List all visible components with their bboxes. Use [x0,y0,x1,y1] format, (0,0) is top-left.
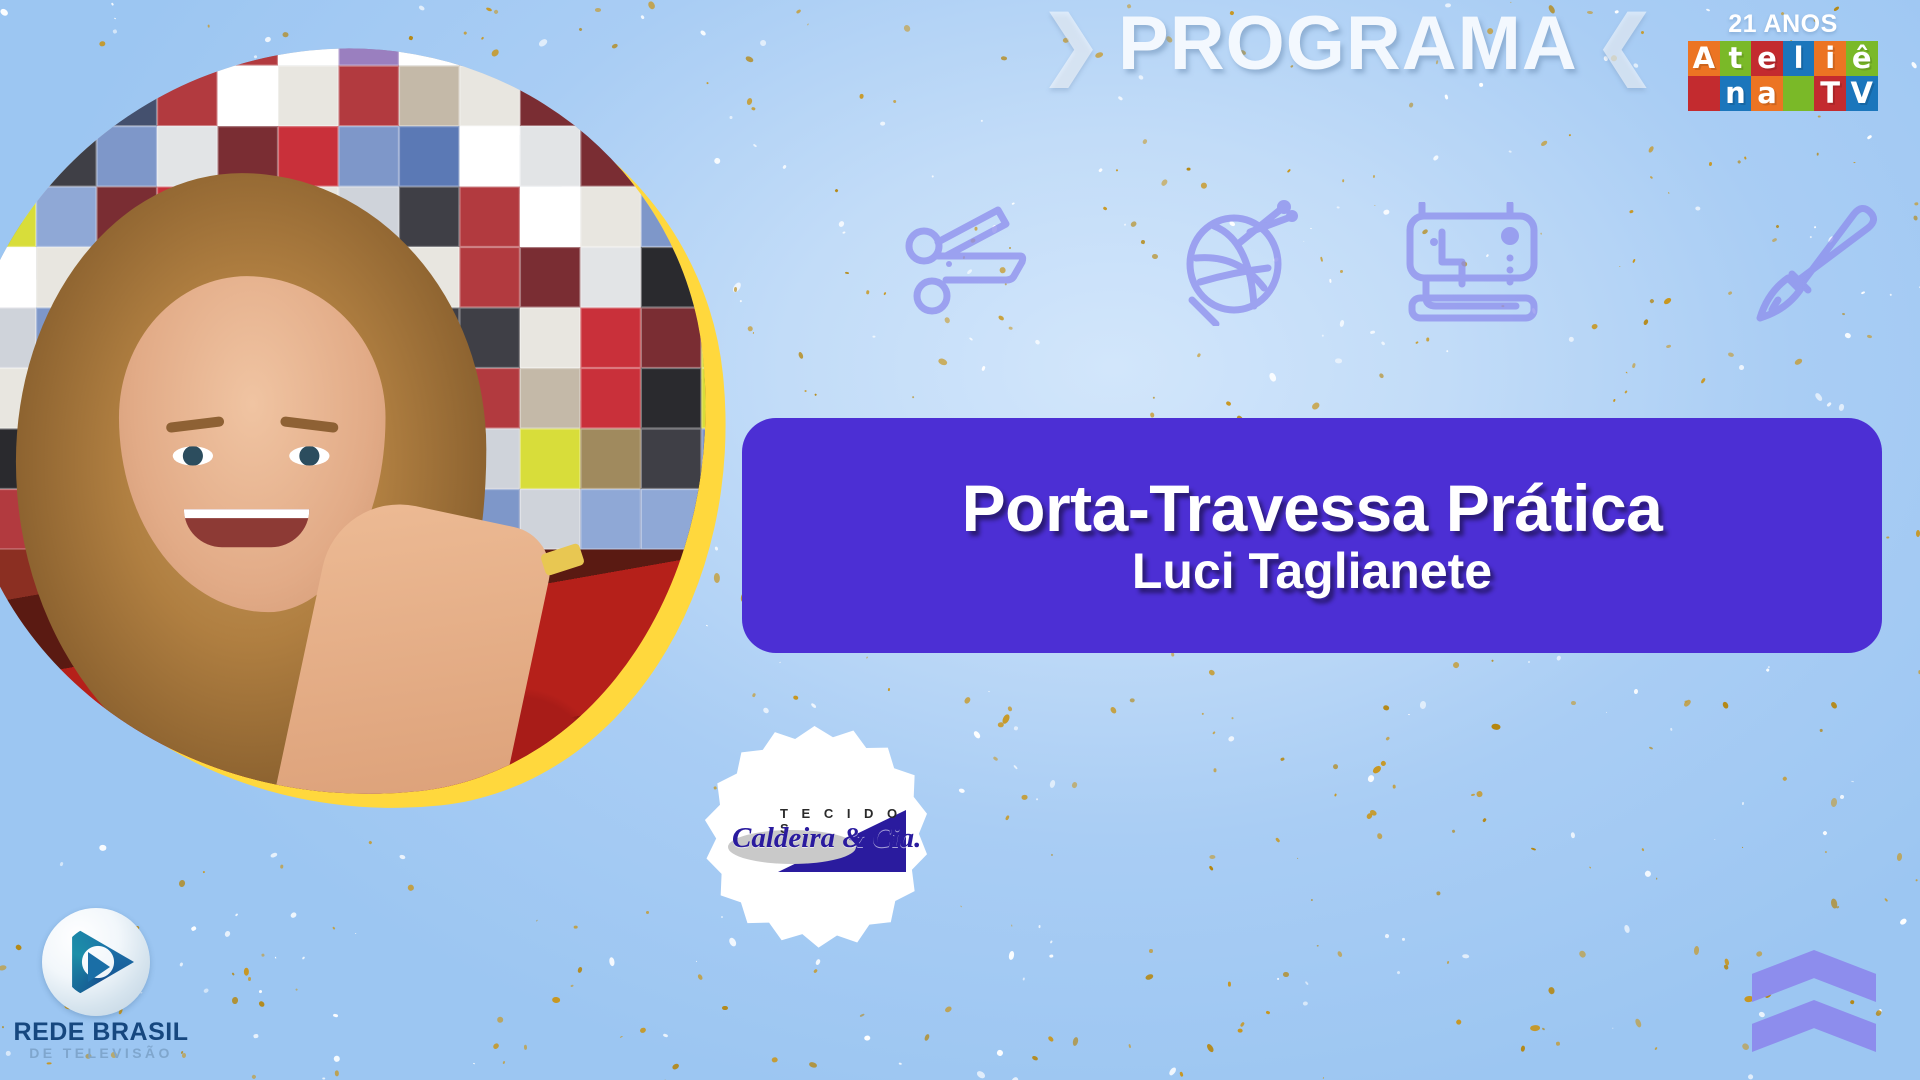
chevron-left-icon: ❮ [1594,7,1656,81]
quilt-patch [520,247,580,307]
quilt-patch [641,489,701,549]
quilt-patch [641,428,701,488]
quilt-patch [701,247,745,307]
quilt-patch [520,13,580,66]
quilt-patch [641,368,701,428]
quilt-patch [218,66,278,126]
quilt-patch [278,13,338,66]
quilt-patch [0,13,36,66]
photo-image [0,13,745,835]
presenter-photo [0,50,750,820]
mouth [184,509,309,547]
presenter-portrait [16,173,486,835]
eye-left [173,446,213,465]
quilt-patch [580,126,640,186]
quilt-patch [459,66,519,126]
quilt-patch [580,13,640,66]
quilt-patch [701,126,745,186]
logo-tile: l [1783,41,1815,76]
logo-tile: a [1751,76,1783,111]
network-logo: REDE BRASIL DE TELEVISÃO [8,908,194,1068]
logo-tile: A [1688,41,1720,76]
quilt-patch [36,66,96,126]
scissors-icon [902,206,1032,316]
quilt-patch [701,187,745,247]
logo-tile: t [1720,41,1752,76]
quilt-patch [97,66,157,126]
quilt-patch [641,13,701,66]
quilt-patch [399,66,459,126]
quilt-patch [399,13,459,66]
logo-tile: ê [1846,41,1878,76]
yarn-ball-icon [1176,196,1306,326]
logo-tile: T [1814,76,1846,111]
quilt-patch [520,428,580,488]
sponsor-badge: T E C I D O S Caldeira & Cia. [702,726,927,951]
quilt-patch [338,13,398,66]
chevron-up-double-icon [1752,950,1876,1066]
quilt-patch [580,187,640,247]
chevron-up-icon [1752,950,1876,1002]
quilt-patch [701,66,745,126]
photo-blob-mask [0,13,745,835]
sewing-machine-icon [1398,202,1544,322]
play-icon [88,952,110,982]
logo-tile-row-2: n a T V [1688,76,1878,111]
quilt-patch [641,247,701,307]
logo-tile-row-1: A t e l i ê [1688,41,1878,76]
quilt-patch [520,66,580,126]
quilt-patch [701,13,745,66]
presenter-name: Luci Taglianete [1132,545,1492,598]
quilt-patch [459,13,519,66]
sponsor-name: Caldeira & Cia. [732,822,912,855]
logo-tile [1688,76,1720,111]
quilt-patch [97,13,157,66]
logo-tile: i [1814,41,1846,76]
quilt-patch [641,66,701,126]
quilt-patch [520,308,580,368]
logo-tile: n [1720,76,1752,111]
eye-right [289,446,329,465]
quilt-patch [218,13,278,66]
title-card: Porta-Travessa Prática Luci Taglianete [742,418,1882,653]
quilt-patch [580,428,640,488]
channel-logo: 21 ANOS A t e l i ê n a T V [1688,12,1878,111]
quilt-patch [641,126,701,186]
network-subtitle: DE TELEVISÃO [10,1046,192,1060]
network-name: REDE BRASIL [10,1020,192,1045]
quilt-patch [580,368,640,428]
quilt-patch [701,489,745,549]
chevron-right-icon: ❯ [1040,7,1102,81]
network-orb-icon [42,908,150,1016]
quilt-patch [520,187,580,247]
program-label: PROGRAMA [1118,6,1578,82]
quilt-patch [641,308,701,368]
broadcast-lower-third-graphic: ❯ PROGRAMA ❮ 21 ANOS A t e l i ê n a T V [0,0,1920,1080]
quilt-patch [0,66,36,126]
quilt-patch [580,66,640,126]
quilt-patch [157,13,217,66]
quilt-patch [278,66,338,126]
quilt-patch [157,66,217,126]
quilt-patch [338,66,398,126]
logo-tile: V [1846,76,1878,111]
quilt-patch [580,308,640,368]
logo-tile: e [1751,41,1783,76]
quilt-patch [580,247,640,307]
eyebrow-right [280,416,339,433]
logo-tile [1783,76,1815,111]
paintbrush-icon [1752,200,1882,330]
quilt-patch [580,489,640,549]
eyebrow-left [166,416,225,433]
program-header: ❯ PROGRAMA ❮ [1040,2,1656,86]
quilt-patch [520,126,580,186]
quilt-patch [520,368,580,428]
quilt-patch [641,187,701,247]
sponsor-logo: T E C I D O S Caldeira & Cia. [724,804,906,876]
quilt-patch [36,13,96,66]
episode-title: Porta-Travessa Prática [962,474,1663,543]
chevron-up-icon [1752,1000,1876,1052]
anniversary-label: 21 ANOS [1688,12,1878,37]
